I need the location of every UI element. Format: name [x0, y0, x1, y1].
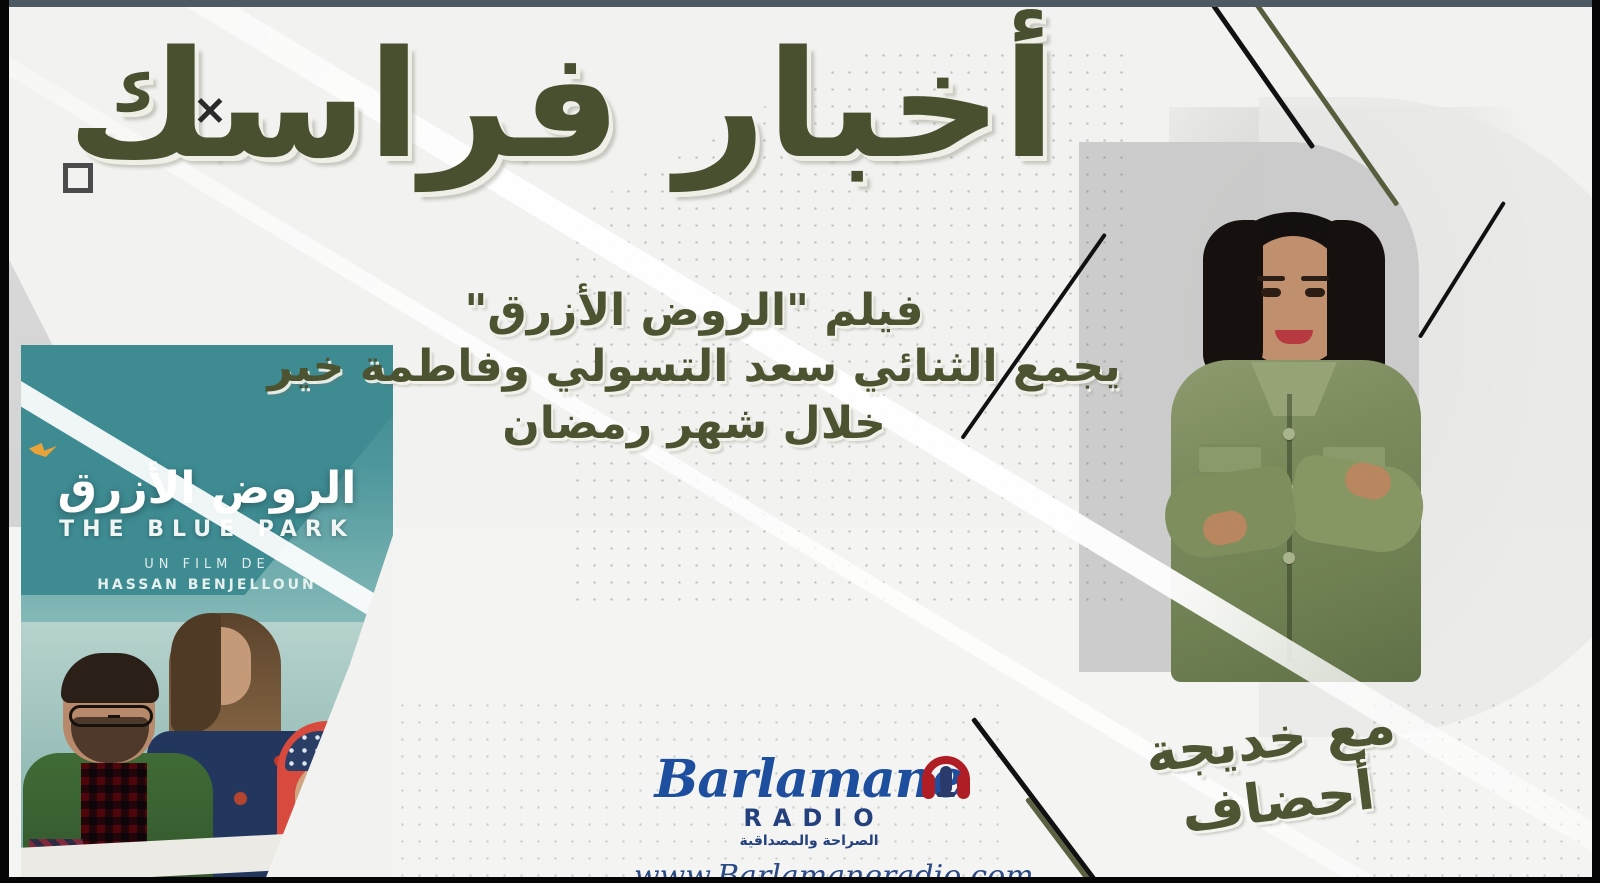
presenter-eyebrow-right — [1301, 276, 1329, 281]
radio-logo: Barlamane RADIO الصراحة والمصداقية www.B… — [634, 752, 984, 877]
logo-wordmark: Barlamane — [654, 752, 963, 808]
news-subtitle: فيلم "الروض الأزرق" يجمع الثنائي سعد الت… — [264, 283, 1124, 452]
headphone-cup-right — [957, 773, 970, 799]
presenter-photo — [1159, 212, 1431, 682]
window-left-border — [0, 0, 9, 883]
page-title: أخبار فراسك — [102, 35, 1056, 176]
window-titlebar-strip — [0, 0, 1600, 7]
microphone-icon — [940, 766, 952, 794]
logo-website-url: www.Barlamaneradio.com — [634, 859, 984, 877]
news-subtitle-line-3: خلال شهر رمضان — [264, 396, 1124, 452]
presenter-eye-left — [1261, 288, 1281, 297]
close-x-icon[interactable] — [195, 95, 225, 125]
poster-title-english: THE BLUE PARK — [21, 517, 393, 542]
poster-man-glasses-icon — [69, 705, 153, 727]
headphone-cup-left — [922, 773, 935, 799]
stop-square-icon[interactable] — [63, 163, 93, 193]
logo-tagline: الصراحة والمصداقية — [634, 833, 984, 849]
presenter-eye-right — [1305, 288, 1325, 297]
video-canvas[interactable]: الروض الأزرق THE BLUE PARK UN FILM DE HA… — [9, 7, 1592, 877]
poster-woman-hair-front — [171, 613, 221, 733]
poster-man-hair — [61, 653, 159, 703]
microphone-base — [937, 792, 955, 797]
presenter-jacket-button — [1283, 552, 1295, 564]
video-window-frame: الروض الأزرق THE BLUE PARK UN FILM DE HA… — [0, 0, 1600, 883]
news-subtitle-line-1: فيلم "الروض الأزرق" — [264, 283, 1124, 339]
presenter-eyebrow-left — [1257, 276, 1285, 281]
presenter-jacket-button — [1283, 428, 1295, 440]
presenter-hair-left — [1203, 220, 1263, 380]
window-right-border — [1592, 0, 1600, 883]
logo-wordmark-row: Barlamane — [634, 752, 984, 808]
news-subtitle-line-2: يجمع الثنائي سعد التسولي وفاطمة خير — [264, 339, 1124, 395]
headphone-microphone-icon — [922, 756, 970, 804]
poster-credit-label: UN FILM DE — [21, 557, 393, 572]
window-bottom-border — [0, 877, 1600, 883]
